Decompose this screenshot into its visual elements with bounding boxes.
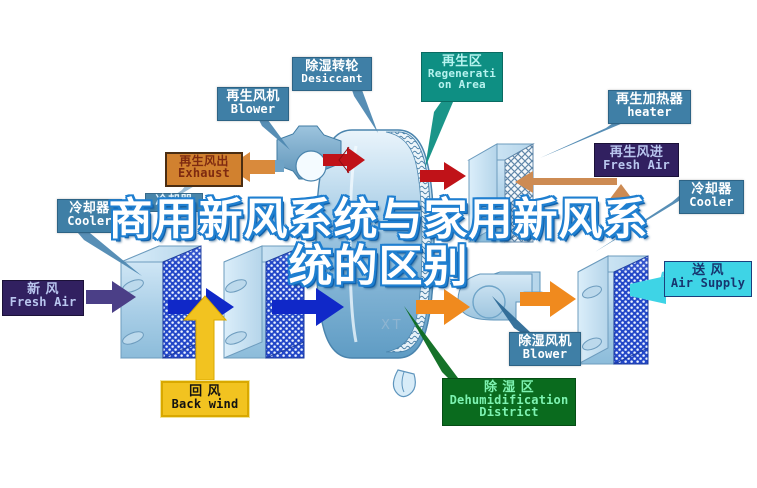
desiccant-rotor-wheel [316, 130, 434, 397]
label-back-wind: 回 风 Back wind [161, 381, 249, 417]
label-regen-exhaust: 再生风出 Exhaust [165, 152, 243, 187]
regeneration-heater-coil [469, 144, 533, 242]
label-desiccant-rotor: 除湿转轮 Desiccant [292, 57, 372, 91]
label-regen-fresh-air-in: 再生风进 Fresh Air [594, 143, 679, 177]
label-regeneration-area: 再生区 Regenerati on Area [421, 52, 503, 102]
label-fresh-air-in: 新 风 Fresh Air [2, 280, 84, 316]
diagram-canvas: XT 再生风机 Blower 除湿转轮 Desiccant 再生区 Regene… [0, 0, 757, 488]
label-cooler-mid: 冷却器 [145, 193, 203, 212]
diagram-artwork [0, 0, 757, 488]
label-regen-heater: 再生加热器 heater [608, 90, 691, 124]
label-air-supply: 送 风 Air Supply [664, 261, 752, 297]
supply-coil [578, 256, 648, 364]
label-cooler-left: 冷却器 Cooler [57, 199, 122, 233]
label-dehumid-blower: 除湿风机 Blower [509, 332, 581, 366]
rotor-watermark-text: XT [381, 318, 404, 333]
arrow-regen-fresh-up [609, 184, 633, 234]
label-dehumidification-district: 除 湿 区 Dehumidification District [442, 378, 576, 426]
label-cooler-right: 冷却器 Cooler [679, 180, 744, 214]
label-regen-blower: 再生风机 Blower [217, 87, 289, 121]
